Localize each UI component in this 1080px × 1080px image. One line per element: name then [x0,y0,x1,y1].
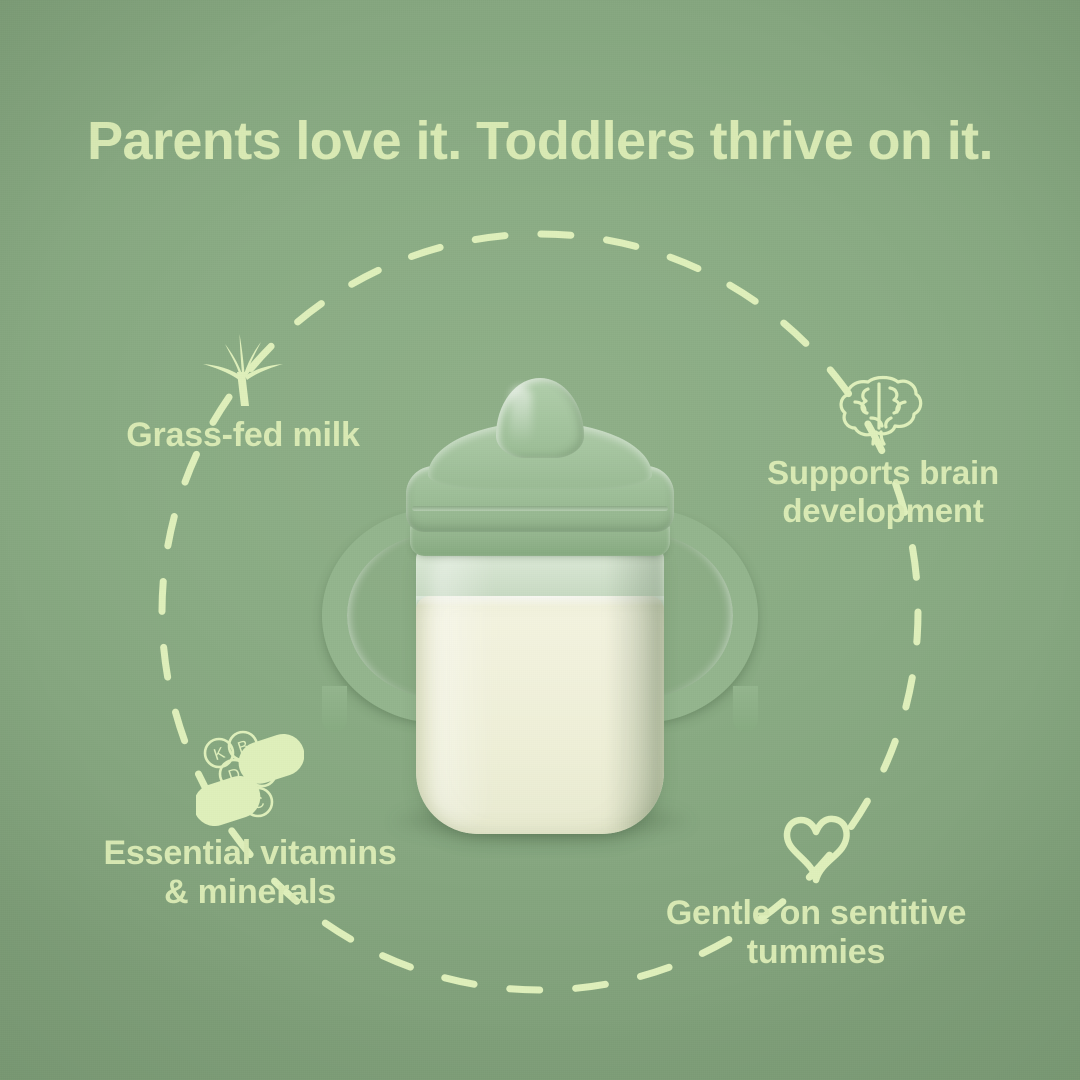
grass-icon [78,330,408,408]
cup-lid-seam [412,506,668,511]
cup-handle-left-tip [322,686,347,732]
feature-label: Essential vitamins & minerals [50,834,450,912]
brain-icon [718,372,1048,446]
feature-label: Grass-fed milk [78,416,408,455]
cup-body [416,538,664,834]
cup-spout-highlight [510,386,532,444]
feature-grass-fed-milk: Grass-fed milk [78,330,408,455]
pills-icon: K B D A C [50,730,450,826]
feature-supports-brain-development: Supports brain development [718,372,1048,529]
feature-label: Supports brain development [718,454,1048,529]
feature-essential-vitamins-minerals: K B D A C Essential vitamins & minerals [50,730,450,912]
cup-body-shading [606,542,664,830]
feature-label: Gentle on sentitive tummies [616,894,1016,972]
page-title: Parents love it. Toddlers thrive on it. [0,112,1080,171]
feature-gentle-on-sensitive-tummies: Gentle on sentitive tummies [616,808,1016,972]
cup-handle-right-tip [733,686,758,732]
svg-text:B: B [236,738,251,757]
promo-graphic: Parents love it. Toddlers thrive on it. [0,0,1080,1080]
svg-text:K: K [212,745,228,765]
heart-icon [616,808,1016,886]
